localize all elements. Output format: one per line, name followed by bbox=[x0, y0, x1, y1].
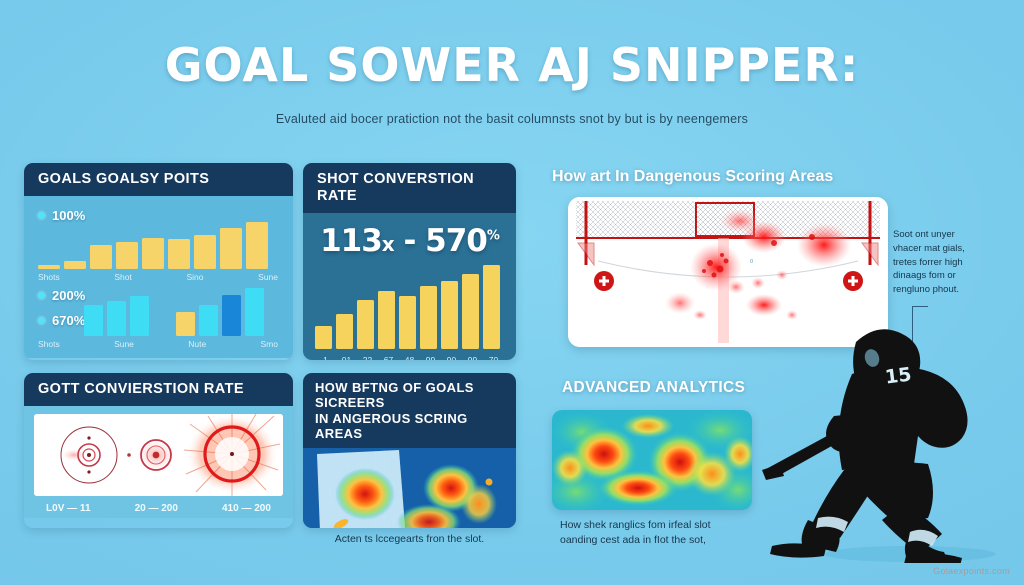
bar bbox=[199, 305, 218, 336]
bar bbox=[245, 288, 264, 336]
panel-shot-conversion: SHOT CONVERSTION RATE 113x - 570% 101226… bbox=[303, 163, 516, 360]
axis-label: 67 bbox=[378, 355, 399, 360]
bar bbox=[315, 326, 332, 349]
bar bbox=[378, 291, 395, 349]
panel-goals-heading: GOALS GOALSY POITS bbox=[24, 163, 293, 196]
legend-dot-icon bbox=[38, 317, 45, 324]
bar bbox=[357, 300, 374, 349]
advanced-heatmap-svg bbox=[552, 410, 752, 510]
bar bbox=[222, 295, 241, 337]
annotation-line: tretes forrer high bbox=[893, 256, 1021, 270]
hockey-player-silhouette bbox=[760, 318, 1024, 563]
legend-item-670: 670% bbox=[38, 313, 85, 328]
advanced-caption-line2: oanding cest ada in fIot the sot, bbox=[560, 533, 775, 548]
axis-labels-conversion: 10122674899909970 bbox=[315, 355, 505, 360]
bar bbox=[116, 242, 138, 270]
stat-second: 570 bbox=[425, 223, 487, 259]
panel-danger-heading-line2: IN ANGEROUS SCRING AREAS bbox=[315, 411, 506, 442]
bar bbox=[142, 238, 164, 269]
bar bbox=[90, 245, 112, 269]
panel-dangerous-areas: HOW BFTNG OF GOALS SICREERS IN ANGEROUS … bbox=[303, 373, 516, 528]
bar bbox=[168, 239, 190, 269]
annotation-line: Soot ont unyer bbox=[893, 228, 1021, 242]
annotation-line: dinaags fom or bbox=[893, 269, 1021, 283]
axis-labels-goals-row2: ShotsSuneNuteSmo bbox=[38, 339, 278, 349]
bar bbox=[130, 296, 149, 337]
axis-label: 48 bbox=[399, 355, 420, 360]
panel-conversion-heading: SHOT CONVERSTION RATE bbox=[303, 163, 516, 213]
legend-dot-icon bbox=[38, 292, 45, 299]
conversion-stat: 113x - 570% bbox=[303, 223, 516, 259]
panel-goals-body: 100% ShotsShotSinoSune 200% 670% ShotsSu… bbox=[24, 196, 293, 358]
panel-gott-body: L0V — 11 20 — 200 410 — 200 bbox=[24, 406, 293, 518]
legend-label: 200% bbox=[52, 288, 85, 303]
stat-value: 113 bbox=[320, 223, 382, 259]
axis-label: Sino bbox=[187, 272, 204, 282]
danger-heatmap-svg bbox=[303, 448, 516, 528]
axis-label: 70 bbox=[483, 355, 504, 360]
stat-multiplier: x bbox=[382, 232, 394, 256]
axis-label: Shots bbox=[38, 339, 60, 349]
gott-label: 20 — 200 bbox=[135, 503, 178, 514]
advanced-heatmap-card bbox=[552, 410, 752, 510]
bar-group-conversion bbox=[315, 261, 500, 349]
bar bbox=[441, 281, 458, 350]
axis-label: Nute bbox=[188, 339, 206, 349]
bar bbox=[483, 265, 500, 349]
bar bbox=[462, 274, 479, 350]
gott-axis-labels: L0V — 11 20 — 200 410 — 200 bbox=[24, 503, 293, 514]
rink-annotation: Soot ont unyer vhacer mat gials, tretes … bbox=[893, 228, 1021, 297]
axis-label: 99 bbox=[462, 355, 483, 360]
legend-label: 670% bbox=[52, 313, 85, 328]
bar bbox=[64, 261, 86, 269]
advanced-caption: How shek ranglics fom irfeal slot oandin… bbox=[560, 518, 775, 548]
axis-label: 01 bbox=[336, 355, 357, 360]
gott-label: L0V — 11 bbox=[46, 503, 90, 514]
panel-danger-heading: HOW BFTNG OF GOALS SICREERS IN ANGEROUS … bbox=[303, 373, 516, 448]
stat-dash: - bbox=[404, 223, 416, 259]
panel-danger-heading-line1: HOW BFTNG OF GOALS SICREERS bbox=[315, 380, 506, 411]
gott-target-plot bbox=[34, 414, 283, 496]
bar bbox=[84, 305, 103, 336]
axis-label: 22 bbox=[357, 355, 378, 360]
bar-group-goals-row2 bbox=[84, 284, 264, 336]
bar bbox=[220, 228, 242, 269]
bar bbox=[38, 265, 60, 269]
panel-gott-heading: GOTT CONVIERSTION RATE bbox=[24, 373, 293, 406]
legend-item-200: 200% bbox=[38, 288, 85, 303]
bar bbox=[399, 296, 416, 349]
axis-label: 90 bbox=[441, 355, 462, 360]
panel-danger-body bbox=[303, 448, 516, 528]
watermark: Golaexpoints.com bbox=[933, 566, 1010, 576]
bar bbox=[107, 301, 126, 336]
annotation-line: rengluno phout. bbox=[893, 283, 1021, 297]
advanced-heading: ADVANCED ANALYTICS bbox=[562, 379, 745, 397]
axis-label: Sune bbox=[114, 339, 134, 349]
bar bbox=[176, 312, 195, 336]
axis-label: Sune bbox=[258, 272, 278, 282]
rink-faceoff-left bbox=[594, 271, 614, 291]
panel-goals-points: GOALS GOALSY POITS 100% ShotsShotSinoSun… bbox=[24, 163, 293, 360]
bar bbox=[420, 286, 437, 349]
bar bbox=[336, 314, 353, 349]
panel-conversion-body: 113x - 570% 10122674899909970 bbox=[303, 213, 516, 360]
axis-label: 99 bbox=[420, 355, 441, 360]
rink-heading: How art In Dangenous Scoring Areas bbox=[552, 168, 833, 186]
axis-label: Smo bbox=[261, 339, 278, 349]
panel-danger-caption: Acten ts lccegearts fron the slot. bbox=[303, 533, 516, 545]
axis-label: Shot bbox=[114, 272, 132, 282]
bar bbox=[246, 222, 268, 269]
annotation-line: vhacer mat gials, bbox=[893, 242, 1021, 256]
axis-label: 1 bbox=[315, 355, 336, 360]
axis-labels-goals-row1: ShotsShotSinoSune bbox=[38, 272, 278, 282]
bar bbox=[194, 235, 216, 269]
page-subtitle: Evaluted aid bocer pratiction not the ba… bbox=[0, 112, 1024, 126]
stat-unit: % bbox=[487, 229, 499, 244]
page-title: GOAL SOWER AJ SNIPPER: bbox=[0, 38, 1024, 92]
gott-target-svg bbox=[34, 414, 283, 496]
axis-label: Shots bbox=[38, 272, 60, 282]
advanced-caption-line1: How shek ranglics fom irfeal slot bbox=[560, 518, 775, 533]
svg-text:0: 0 bbox=[750, 259, 753, 265]
gott-label: 410 — 200 bbox=[222, 503, 271, 514]
panel-gott-conversion: GOTT CONVIERSTION RATE bbox=[24, 373, 293, 528]
rink-faceoff-right bbox=[843, 271, 863, 291]
bar-group-goals-row1 bbox=[38, 214, 268, 269]
infographic-canvas: GOAL SOWER AJ SNIPPER: Evaluted aid boce… bbox=[0, 0, 1024, 585]
